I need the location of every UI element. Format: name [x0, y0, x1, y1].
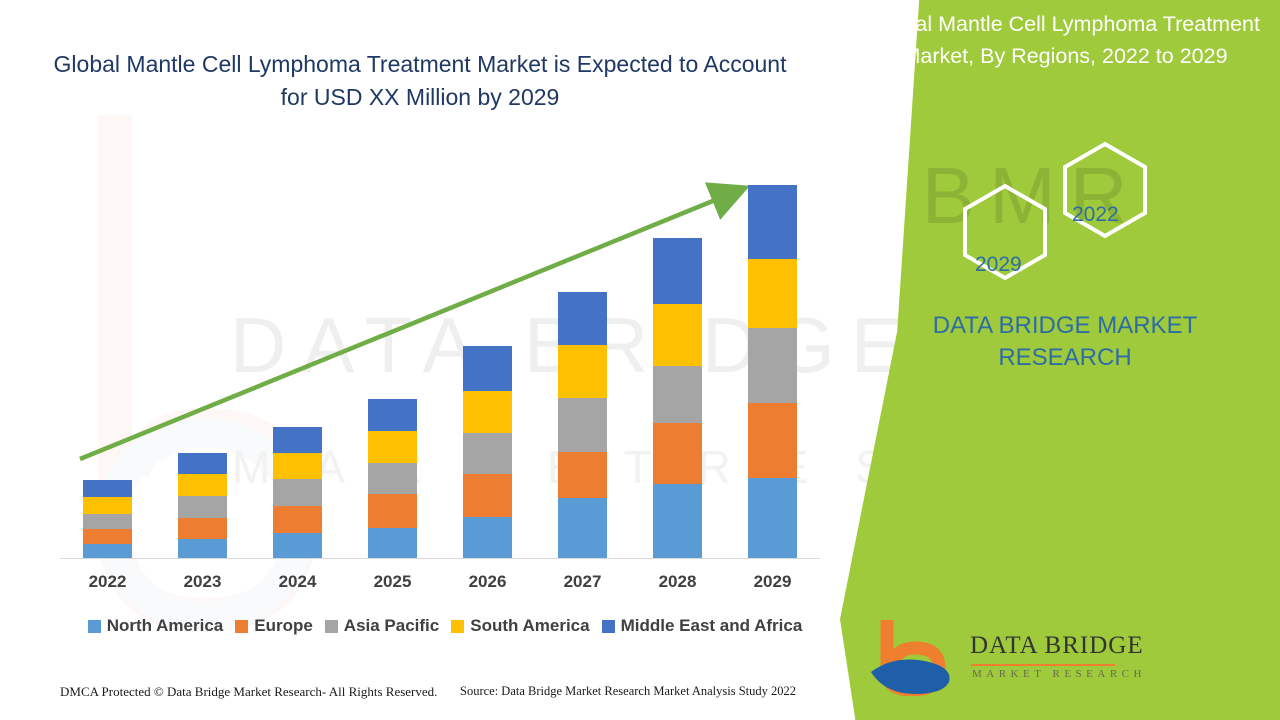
bar-column-2022	[60, 150, 155, 559]
bar-column-2025	[345, 150, 440, 559]
legend-label: South America	[470, 616, 589, 636]
chart-panel: Global Mantle Cell Lymphoma Treatment Ma…	[0, 0, 880, 720]
x-axis-label-2027: 2027	[535, 572, 630, 592]
x-axis-label-2028: 2028	[630, 572, 725, 592]
bar-segment	[273, 533, 322, 559]
bar-segment	[83, 544, 132, 559]
bar-segment	[273, 427, 322, 453]
x-axis-label-2029: 2029	[725, 572, 820, 592]
legend-swatch-icon	[451, 620, 464, 633]
x-axis-label-2023: 2023	[155, 572, 250, 592]
legend-swatch-icon	[325, 620, 338, 633]
bar-column-2027	[535, 150, 630, 559]
bar-column-2024	[250, 150, 345, 559]
legend-swatch-icon	[602, 620, 615, 633]
stacked-bar	[178, 453, 227, 559]
green-panel-brand: DATA BRIDGE MARKET RESEARCH	[870, 310, 1260, 375]
bar-segment	[368, 494, 417, 528]
bar-segment	[83, 497, 132, 514]
x-axis-labels: 20222023202420252026202720282029	[60, 572, 820, 592]
legend-label: North America	[107, 616, 224, 636]
bar-segment	[178, 453, 227, 474]
bar-segment	[748, 259, 797, 328]
bar-segment	[368, 431, 417, 463]
bar-segment	[653, 366, 702, 423]
footer-source: Source: Data Bridge Market Research Mark…	[460, 684, 796, 699]
bar-segment	[558, 452, 607, 498]
bar-segment	[558, 498, 607, 559]
bar-segment	[273, 506, 322, 533]
stacked-bar	[653, 238, 702, 559]
bar-segment	[368, 528, 417, 559]
logo-divider	[971, 664, 1115, 666]
bar-segment	[748, 185, 797, 259]
stacked-bar	[83, 480, 132, 559]
legend-item[interactable]: Middle East and Africa	[602, 616, 803, 636]
stacked-bar	[273, 427, 322, 559]
bar-segment	[368, 399, 417, 431]
bar-segment	[83, 529, 132, 544]
bar-segment	[558, 292, 607, 345]
bar-segment	[653, 304, 702, 366]
bar-column-2029	[725, 150, 820, 559]
x-axis-label-2022: 2022	[60, 572, 155, 592]
stacked-bar	[558, 292, 607, 559]
legend-label: Europe	[254, 616, 313, 636]
logo-mark-icon	[865, 620, 965, 696]
bar-segment	[463, 346, 512, 391]
bar-segment	[748, 328, 797, 403]
bar-segment	[463, 474, 512, 517]
legend-item[interactable]: Asia Pacific	[325, 616, 439, 636]
bar-segment	[178, 474, 227, 496]
bar-segment	[83, 480, 132, 497]
bar-segment	[653, 484, 702, 559]
chart-legend: North AmericaEuropeAsia PacificSouth Ame…	[60, 616, 830, 636]
x-axis-line	[60, 558, 820, 559]
x-axis-label-2024: 2024	[250, 572, 345, 592]
stacked-bar	[463, 346, 512, 559]
bar-column-2028	[630, 150, 725, 559]
bar-segment	[463, 517, 512, 559]
bar-segment	[178, 496, 227, 518]
stacked-bar	[748, 185, 797, 559]
bar-segment	[558, 398, 607, 452]
stacked-bar	[368, 399, 417, 559]
hexagon-label-2022: 2022	[1072, 203, 1119, 227]
bar-segment	[273, 453, 322, 479]
bar-segment	[463, 433, 512, 474]
bar-segment	[748, 478, 797, 559]
legend-item[interactable]: South America	[451, 616, 589, 636]
green-panel-title: Global Mantle Cell Lymphoma Treatment Ma…	[870, 8, 1260, 73]
chart-title: Global Mantle Cell Lymphoma Treatment Ma…	[50, 48, 790, 113]
green-side-panel: DBMR Global Mantle Cell Lymphoma Treatme…	[840, 0, 1280, 720]
bar-segment	[653, 238, 702, 304]
bar-segment	[748, 403, 797, 478]
bar-segment	[83, 514, 132, 529]
bar-column-2023	[155, 150, 250, 559]
bar-segment	[273, 479, 322, 506]
infographic-slide: DATA BRIDGE M A R K E T R E S E A R C H …	[0, 0, 1280, 720]
bar-segment	[558, 345, 607, 398]
footer-copyright: DMCA Protected © Data Bridge Market Rese…	[60, 684, 437, 700]
legend-swatch-icon	[235, 620, 248, 633]
company-logo: DATA BRIDGE MARKET RESEARCH	[865, 620, 1155, 700]
bar-segment	[368, 463, 417, 494]
hexagon-label-2029: 2029	[975, 253, 1022, 277]
legend-label: Asia Pacific	[344, 616, 439, 636]
bar-segment	[178, 539, 227, 559]
bar-segment	[653, 423, 702, 484]
legend-label: Middle East and Africa	[621, 616, 803, 636]
logo-title: DATA BRIDGE	[970, 632, 1144, 660]
logo-subtitle: MARKET RESEARCH	[972, 668, 1146, 680]
legend-swatch-icon	[88, 620, 101, 633]
bar-column-2026	[440, 150, 535, 559]
bar-segment	[178, 518, 227, 539]
x-axis-label-2026: 2026	[440, 572, 535, 592]
x-axis-label-2025: 2025	[345, 572, 440, 592]
legend-item[interactable]: North America	[88, 616, 224, 636]
hexagon-pair: 2022 2029	[950, 140, 1180, 280]
legend-item[interactable]: Europe	[235, 616, 313, 636]
bar-segment	[463, 391, 512, 433]
bar-group	[60, 150, 820, 559]
